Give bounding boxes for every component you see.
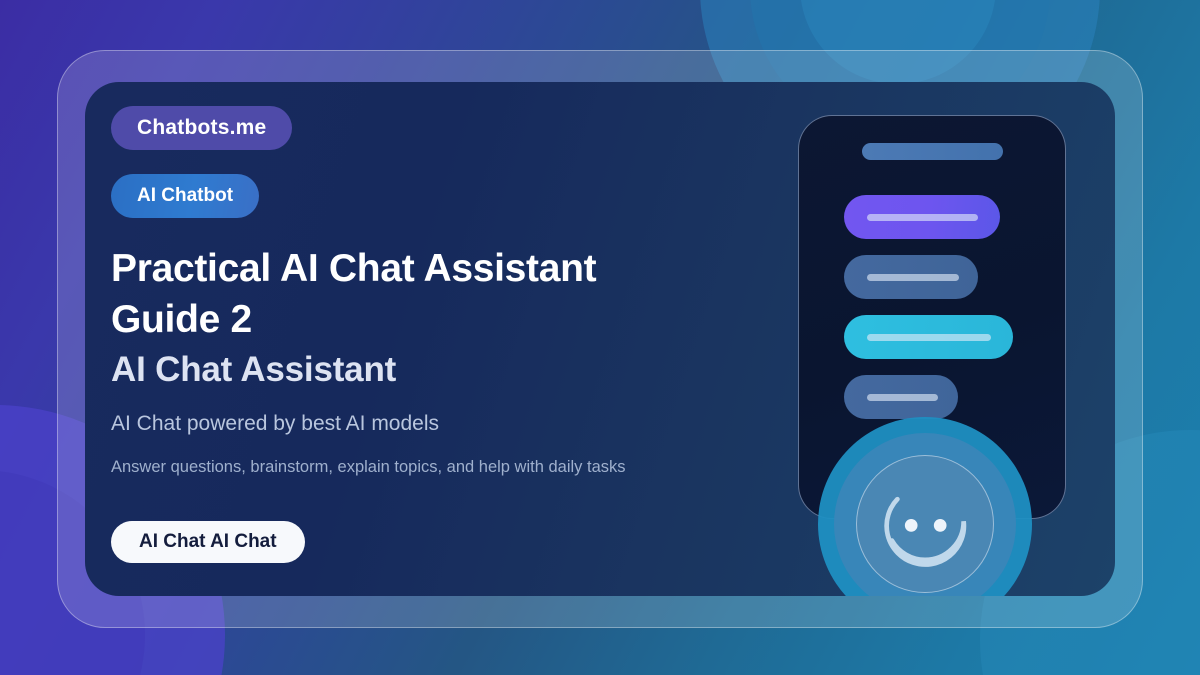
chat-bubble-reply[interactable] xyxy=(844,375,958,419)
headline-line-3: AI Chat Assistant xyxy=(111,347,811,393)
promo-banner: Chatbots.me AI Chatbot Practical AI Chat… xyxy=(0,0,1200,675)
chat-bubble-user[interactable] xyxy=(844,195,1000,239)
content-card: Chatbots.me AI Chatbot Practical AI Chat… xyxy=(85,82,1115,596)
placeholder-bar xyxy=(862,143,1003,160)
bubble-text-line xyxy=(867,214,978,221)
bubble-text-line xyxy=(867,394,938,401)
brand-pill[interactable]: Chatbots.me xyxy=(111,106,292,150)
chat-bubble-assistant[interactable] xyxy=(844,255,978,299)
description: Answer questions, brainstorm, explain to… xyxy=(111,458,811,477)
tagline: AI Chat powered by best AI models xyxy=(111,412,811,436)
chat-bubble-highlight[interactable] xyxy=(844,315,1013,359)
headline-line-1: Practical AI Chat Assistant xyxy=(111,244,811,295)
category-tag-pill[interactable]: AI Chatbot xyxy=(111,174,259,218)
assistant-badge[interactable] xyxy=(818,417,1032,596)
bubble-text-line xyxy=(867,334,991,341)
bubble-text-line xyxy=(867,274,959,281)
cta-button[interactable]: AI Chat AI Chat xyxy=(111,521,305,563)
smiley-face-icon xyxy=(856,455,994,593)
page-title: Practical AI Chat Assistant Guide 2 xyxy=(111,244,811,345)
text-column: Chatbots.me AI Chatbot Practical AI Chat… xyxy=(111,106,811,563)
headline-line-2: Guide 2 xyxy=(111,295,811,346)
